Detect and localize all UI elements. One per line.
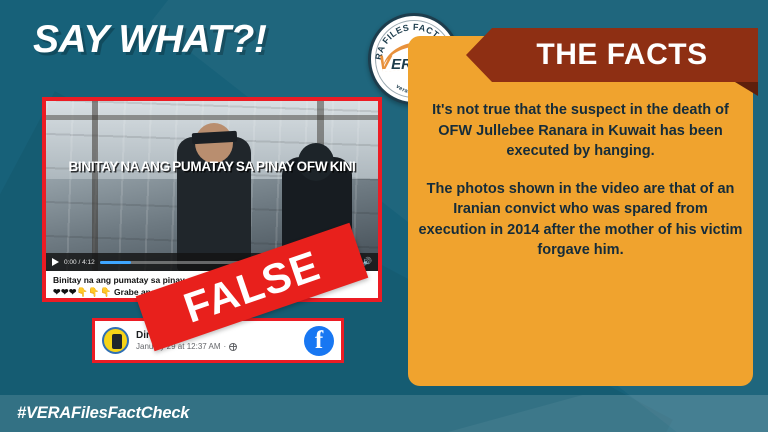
avatar: [102, 327, 129, 354]
video-timestamp: 0:00 / 4:12: [64, 259, 95, 266]
page-title: SAY WHAT?!: [33, 18, 266, 62]
video-progress-fill: [100, 261, 131, 264]
facts-ribbon-label: THE FACTS: [516, 38, 707, 72]
facts-paragraph-1: It's not true that the suspect in the de…: [418, 100, 743, 162]
facts-ribbon: THE FACTS: [466, 28, 758, 82]
thumbnail-post-left: [92, 101, 98, 271]
blindfold-icon: [192, 131, 238, 144]
play-icon[interactable]: [52, 258, 59, 266]
facts-paragraph-2: The photos shown in the video are that o…: [418, 179, 743, 261]
globe-icon: [229, 343, 237, 351]
thumbnail-overlay-text: BINITAY NA ANG PUMATAY SA PINAY OFW KINI: [54, 159, 370, 175]
facebook-icon: f: [304, 326, 334, 356]
facts-text: It's not true that the suspect in the de…: [418, 100, 743, 261]
footer-bar: #VERAFilesFactCheck: [0, 395, 768, 432]
facebook-f-glyph: f: [304, 328, 334, 353]
caption-emojis-left: ❤❤❤👇👇👇: [53, 287, 112, 297]
seal-check-v: V: [378, 53, 391, 74]
fact-check-graphic: SAY WHAT?! VERA FILES FACT CHECK verafil…: [0, 0, 768, 432]
post-timestamp: January 29 at 12:37 AM: [136, 342, 221, 353]
footer-hashtag: #VERAFilesFactCheck: [17, 404, 189, 423]
footer-diagonal-accent: [448, 395, 768, 432]
flagged-post-screenshot: BINITAY NA ANG PUMATAY SA PINAY OFW KINI…: [42, 97, 382, 302]
